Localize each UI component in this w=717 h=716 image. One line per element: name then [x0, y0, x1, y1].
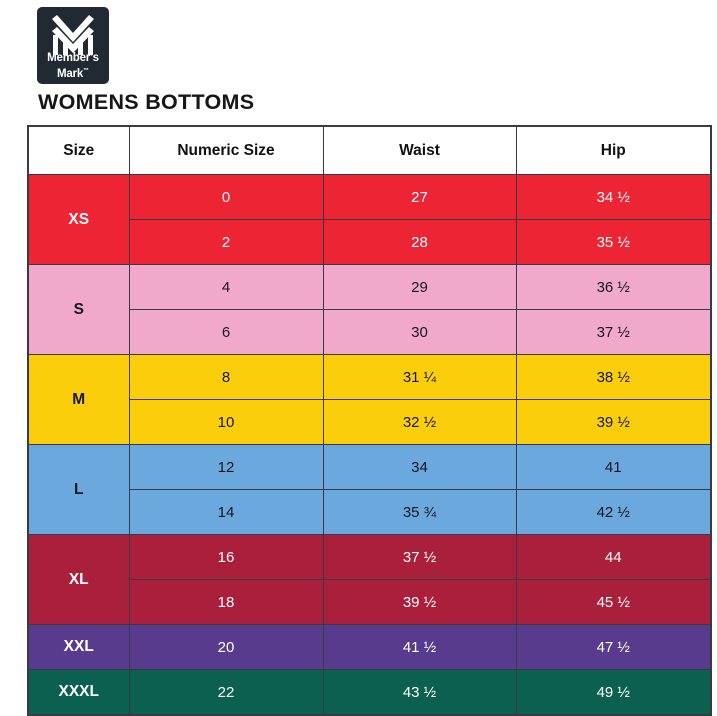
- table-row: 22835 ½: [28, 220, 711, 265]
- cell-numeric: 8: [129, 355, 323, 400]
- cell-hip: 34 ½: [516, 175, 711, 220]
- logo-tile: Member's Mark™: [37, 7, 109, 84]
- cell-waist: 37 ½: [323, 535, 516, 580]
- column-header-numeric-size: Numeric Size: [129, 126, 323, 175]
- cell-waist: 28: [323, 220, 516, 265]
- column-header-size: Size: [28, 126, 129, 175]
- cell-hip: 36 ½: [516, 265, 711, 310]
- cell-hip: 42 ½: [516, 490, 711, 535]
- size-label-xxxl: XXXL: [28, 670, 129, 716]
- cell-hip: 47 ½: [516, 625, 711, 670]
- table-header: Size Numeric Size Waist Hip: [28, 126, 711, 175]
- cell-numeric: 6: [129, 310, 323, 355]
- size-label-xl: XL: [28, 535, 129, 625]
- size-label-l: L: [28, 445, 129, 535]
- table-row: XL1637 ½44: [28, 535, 711, 580]
- cell-waist: 39 ½: [323, 580, 516, 625]
- logo-wordmark-line1: Member's: [47, 52, 99, 64]
- cell-waist: 43 ½: [323, 670, 516, 716]
- cell-hip: 35 ½: [516, 220, 711, 265]
- cell-waist: 35 ¾: [323, 490, 516, 535]
- size-label-xs: XS: [28, 175, 129, 265]
- cell-waist: 32 ½: [323, 400, 516, 445]
- trademark-symbol: ™: [83, 68, 89, 74]
- cell-waist: 30: [323, 310, 516, 355]
- table-row: S42936 ½: [28, 265, 711, 310]
- cell-waist: 31 ¼: [323, 355, 516, 400]
- members-mark-logo: Member's Mark™: [37, 7, 109, 84]
- column-header-hip: Hip: [516, 126, 711, 175]
- cell-numeric: 2: [129, 220, 323, 265]
- cell-hip: 45 ½: [516, 580, 711, 625]
- logo-wordmark: Member's Mark™: [37, 52, 109, 80]
- table-body: XS02734 ½22835 ½S42936 ½63037 ½M831 ¼38 …: [28, 175, 711, 716]
- page-title: WOMENS BOTTOMS: [38, 90, 254, 115]
- members-mark-m-icon: [37, 13, 109, 57]
- cell-hip: 44: [516, 535, 711, 580]
- table-row: 1032 ½39 ½: [28, 400, 711, 445]
- cell-numeric: 0: [129, 175, 323, 220]
- size-chart-table: Size Numeric Size Waist Hip XS02734 ½228…: [27, 125, 712, 716]
- table-header-row: Size Numeric Size Waist Hip: [28, 126, 711, 175]
- cell-numeric: 20: [129, 625, 323, 670]
- table-row: XS02734 ½: [28, 175, 711, 220]
- size-label-s: S: [28, 265, 129, 355]
- size-label-xxl: XXL: [28, 625, 129, 670]
- table-row: 1839 ½45 ½: [28, 580, 711, 625]
- cell-numeric: 4: [129, 265, 323, 310]
- cell-numeric: 22: [129, 670, 323, 716]
- table-row: M831 ¼38 ½: [28, 355, 711, 400]
- cell-hip: 38 ½: [516, 355, 711, 400]
- size-chart-page: Member's Mark™ WOMENS BOTTOMS Size Numer…: [0, 0, 717, 700]
- column-header-waist: Waist: [323, 126, 516, 175]
- table-row: XXXL2243 ½49 ½: [28, 670, 711, 716]
- cell-numeric: 12: [129, 445, 323, 490]
- cell-hip: 41: [516, 445, 711, 490]
- cell-waist: 29: [323, 265, 516, 310]
- table-row: 63037 ½: [28, 310, 711, 355]
- cell-numeric: 18: [129, 580, 323, 625]
- cell-waist: 34: [323, 445, 516, 490]
- size-label-m: M: [28, 355, 129, 445]
- cell-hip: 39 ½: [516, 400, 711, 445]
- cell-waist: 27: [323, 175, 516, 220]
- cell-numeric: 10: [129, 400, 323, 445]
- cell-waist: 41 ½: [323, 625, 516, 670]
- cell-hip: 37 ½: [516, 310, 711, 355]
- logo-wordmark-line2: Mark: [57, 67, 83, 79]
- table-row: XXL2041 ½47 ½: [28, 625, 711, 670]
- table-row: 1435 ¾42 ½: [28, 490, 711, 535]
- cell-hip: 49 ½: [516, 670, 711, 716]
- table-row: L123441: [28, 445, 711, 490]
- cell-numeric: 14: [129, 490, 323, 535]
- cell-numeric: 16: [129, 535, 323, 580]
